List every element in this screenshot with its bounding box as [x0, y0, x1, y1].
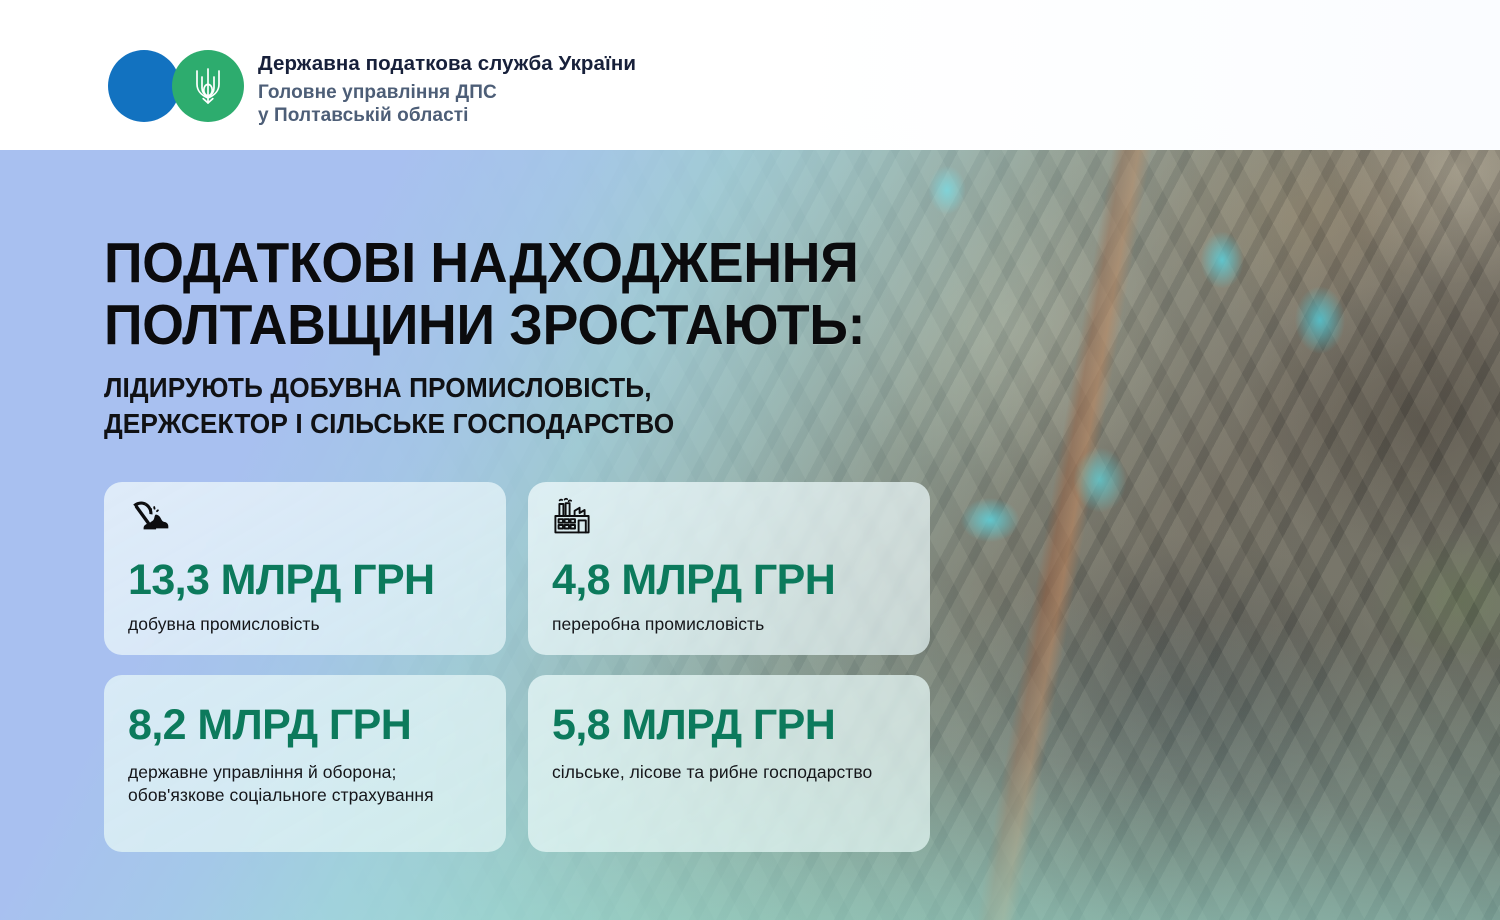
stat-label: добувна промисловість [128, 613, 488, 636]
organization-title-block: Державна податкова служба України Головн… [258, 54, 636, 125]
stat-card-grid: 13,3 МЛРД ГРН добувна промисловість [104, 482, 949, 852]
page-subtitle-line-2: ДЕРЖСЕКТОР І СІЛЬСЬКЕ ГОСПОДАРСТВО [104, 406, 674, 442]
page-title-line-1: ПОДАТКОВІ НАДХОДЖЕННЯ [104, 232, 865, 294]
infographic-poster: Державна податкова служба України Головн… [0, 0, 1500, 920]
page-title-line-2: ПОЛТАВЩИНИ ЗРОСТАЮТЬ: [104, 294, 865, 356]
org-name-department: Головне управління ДПС [258, 83, 636, 102]
stat-value: 8,2 МЛРД ГРН [128, 701, 411, 750]
header-band: Державна податкова служба України Головн… [0, 0, 1500, 150]
stat-card: 13,3 МЛРД ГРН добувна промисловість [104, 482, 506, 655]
stat-label: переробна промисловість [552, 613, 912, 636]
page-subtitle: ЛІДИРУЮТЬ ДОБУВНА ПРОМИСЛОВІСТЬ, ДЕРЖСЕК… [104, 370, 674, 442]
stat-value: 13,3 МЛРД ГРН [128, 556, 435, 605]
stat-card: 8,2 МЛРД ГРН державне управління й оборо… [104, 675, 506, 852]
stat-card: 4,8 МЛРД ГРН переробна промисловість [528, 482, 930, 655]
organization-logo [108, 50, 244, 122]
logo-green-circle [172, 50, 244, 122]
ukraine-trident-icon [191, 64, 225, 108]
factory-icon [552, 497, 596, 537]
org-name-primary: Державна податкова служба України [258, 54, 636, 75]
stat-label: сільське, лісове та рибне господарство [552, 761, 912, 784]
stat-value: 5,8 МЛРД ГРН [552, 701, 835, 750]
page-subtitle-line-1: ЛІДИРУЮТЬ ДОБУВНА ПРОМИСЛОВІСТЬ, [104, 370, 674, 406]
stat-label: державне управління й оборона; обов'язко… [128, 761, 488, 808]
logo-blue-circle [108, 50, 180, 122]
stat-card: 5,8 МЛРД ГРН сільське, лісове та рибне г… [528, 675, 930, 852]
stat-value: 4,8 МЛРД ГРН [552, 556, 835, 605]
org-name-region: у Полтавській області [258, 106, 636, 125]
pickaxe-coal-icon [128, 497, 172, 537]
page-title: ПОДАТКОВІ НАДХОДЖЕННЯ ПОЛТАВЩИНИ ЗРОСТАЮ… [104, 232, 865, 357]
